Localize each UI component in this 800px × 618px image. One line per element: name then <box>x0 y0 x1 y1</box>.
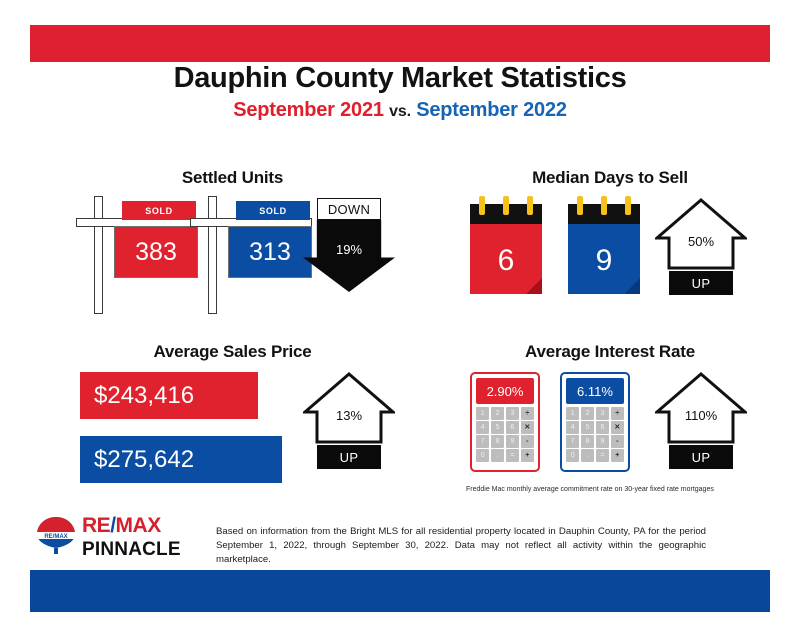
direction-label-up: UP <box>669 445 733 469</box>
direction-label-up: UP <box>669 271 733 295</box>
remax-re: RE <box>82 514 110 537</box>
calc-key-equals: = <box>596 449 609 462</box>
calculator-keypad-current: 1 2 3 ÷ 4 5 6 ✕ 7 8 9 - 0 . = + <box>566 407 624 462</box>
footer-accent-bar <box>30 570 770 612</box>
calendar-ring <box>527 196 533 215</box>
panel-median-days: Median Days to Sell 6 9 50% UP <box>450 168 770 318</box>
median-days-prior-value: 6 <box>470 244 542 278</box>
calc-key: 5 <box>581 421 594 434</box>
average-sales-price-prior-value: $243,416 <box>80 372 258 419</box>
period-prior-label: September 2021 <box>233 99 384 121</box>
average-sales-price-title: Average Sales Price <box>60 342 405 362</box>
calc-key: 4 <box>476 421 489 434</box>
calc-key-divide: ÷ <box>611 407 624 420</box>
panel-settled-units: Settled Units SOLD 383 SOLD 313 DOWN 19% <box>60 168 405 318</box>
calc-key-multiply: ✕ <box>611 421 624 434</box>
calc-key: 0 <box>476 449 489 462</box>
calc-key: . <box>491 449 504 462</box>
calc-key: 2 <box>491 407 504 420</box>
period-current-label: September 2022 <box>416 99 567 121</box>
calc-key: 8 <box>491 435 504 448</box>
average-interest-rate-change-percent: 110% <box>655 408 747 423</box>
interest-rate-prior-value: 2.90% <box>476 378 534 404</box>
median-days-change-percent: 50% <box>655 234 747 249</box>
calc-key: 0 <box>566 449 579 462</box>
calc-key: 7 <box>476 435 489 448</box>
remax-pinnacle-logo: RE/MAX RE/MAX PINNACLE <box>28 513 203 565</box>
average-interest-rate-title: Average Interest Rate <box>450 342 770 362</box>
calendar-icon-prior: 6 <box>470 196 542 294</box>
calc-key: 8 <box>581 435 594 448</box>
median-days-current-value: 9 <box>568 244 640 278</box>
average-sales-price-change-percent: 13% <box>303 408 395 423</box>
settled-units-prior-value: 383 <box>114 226 198 278</box>
sold-rider-prior: SOLD <box>122 201 196 220</box>
calendar-icon-current: 9 <box>568 196 640 294</box>
calendar-ring <box>479 196 485 215</box>
calc-key: 6 <box>506 421 519 434</box>
remax-wordmark: RE/MAX <box>82 515 181 536</box>
calc-key-minus: - <box>521 435 534 448</box>
calculator-icon-current: 6.11% 1 2 3 ÷ 4 5 6 ✕ 7 8 9 - 0 . = + <box>560 372 630 472</box>
average-sales-price-current-value: $275,642 <box>80 436 282 483</box>
calendar-ring <box>601 196 607 215</box>
median-days-title: Median Days to Sell <box>450 168 770 188</box>
calc-key: 4 <box>566 421 579 434</box>
remax-max: MAX <box>116 514 161 537</box>
calc-key-plus: + <box>521 449 534 462</box>
calc-key-minus: - <box>611 435 624 448</box>
settled-units-title: Settled Units <box>60 168 405 188</box>
vs-label: vs. <box>389 103 411 120</box>
calc-key: 9 <box>596 435 609 448</box>
calc-key: 1 <box>476 407 489 420</box>
page-subtitle: September 2021 vs. September 2022 <box>0 99 800 122</box>
calc-key: 3 <box>596 407 609 420</box>
panel-average-interest-rate: Average Interest Rate 2.90% 1 2 3 ÷ 4 5 … <box>450 342 770 502</box>
logo-wordmark: RE/MAX PINNACLE <box>82 515 181 559</box>
calc-key: 2 <box>581 407 594 420</box>
interest-rate-current-value: 6.11% <box>566 378 624 404</box>
settled-units-change-percent: 19% <box>303 242 395 257</box>
sold-rider-current: SOLD <box>236 201 310 220</box>
calendar-ring <box>625 196 631 215</box>
pinnacle-wordmark: PINNACLE <box>82 540 181 559</box>
direction-label-down: DOWN <box>317 198 381 220</box>
remax-balloon-icon: RE/MAX <box>34 515 78 559</box>
calendar-ring <box>577 196 583 215</box>
calc-key-multiply: ✕ <box>521 421 534 434</box>
calc-key: 5 <box>491 421 504 434</box>
panel-average-sales-price: Average Sales Price $243,416 $275,642 13… <box>60 342 405 492</box>
calculator-keypad-prior: 1 2 3 ÷ 4 5 6 ✕ 7 8 9 - 0 . = + <box>476 407 534 462</box>
interest-rate-footnote: Freddie Mac monthly average commitment r… <box>466 486 714 493</box>
page-title: Dauphin County Market Statistics <box>0 62 800 95</box>
header-accent-bar <box>30 25 770 62</box>
direction-label-up: UP <box>317 445 381 469</box>
calendar-ring <box>503 196 509 215</box>
sign-post-vertical <box>208 196 217 314</box>
calc-key: . <box>581 449 594 462</box>
calc-key: 1 <box>566 407 579 420</box>
calc-key-equals: = <box>506 449 519 462</box>
settled-units-current-value: 313 <box>228 226 312 278</box>
calculator-icon-prior: 2.90% 1 2 3 ÷ 4 5 6 ✕ 7 8 9 - 0 . = + <box>470 372 540 472</box>
calc-key: 3 <box>506 407 519 420</box>
disclaimer-text: Based on information from the Bright MLS… <box>216 525 706 567</box>
calc-key: 9 <box>506 435 519 448</box>
calc-key: 7 <box>566 435 579 448</box>
svg-text:RE/MAX: RE/MAX <box>44 534 67 540</box>
calc-key-divide: ÷ <box>521 407 534 420</box>
sign-post-vertical <box>94 196 103 314</box>
calc-key-plus: + <box>611 449 624 462</box>
calc-key: 6 <box>596 421 609 434</box>
